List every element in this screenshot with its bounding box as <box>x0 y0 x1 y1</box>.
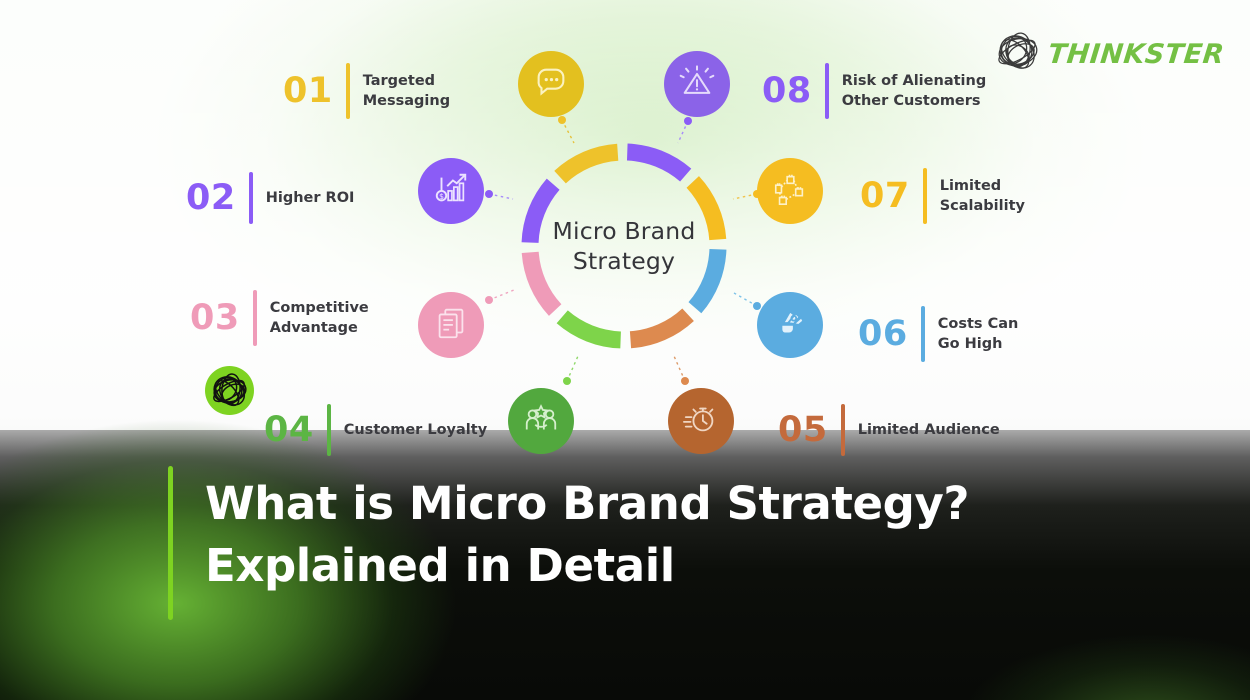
item-number: 06 <box>858 317 908 352</box>
item-divider <box>327 404 331 456</box>
item-label: Targeted Messaging <box>363 71 450 111</box>
stopwatch-icon <box>682 400 720 443</box>
chat-bubble-icon <box>532 63 570 106</box>
icon-bubble-limited-scalability[interactable] <box>757 158 823 224</box>
icon-bubble-targeted-messaging[interactable] <box>518 51 584 117</box>
item-number: 03 <box>190 301 240 336</box>
item-number: 02 <box>186 181 236 216</box>
people-star-icon <box>522 400 560 443</box>
item-divider <box>825 63 829 119</box>
growth-chart-dollar-icon: $ <box>432 170 470 213</box>
item-label: Competitive Advantage <box>270 298 369 338</box>
title-line-1: What is Micro Brand Strategy? <box>205 473 1065 535</box>
list-item-07[interactable]: 07 Limited Scalability <box>860 168 1025 224</box>
hand-cash-icon <box>771 304 809 347</box>
list-item-08[interactable]: 08 Risk of Alienating Other Customers <box>762 63 986 119</box>
list-item-02[interactable]: 02 Higher ROI <box>186 172 354 224</box>
page-title: What is Micro Brand Strategy? Explained … <box>205 473 1065 597</box>
center-label-line1: Micro Brand <box>553 216 696 246</box>
title-accent-rule <box>168 466 173 620</box>
icon-bubble-competitive-advantage[interactable] <box>418 292 484 358</box>
item-label: Higher ROI <box>266 188 355 208</box>
list-item-03[interactable]: 03 Competitive Advantage <box>190 290 369 346</box>
item-number: 08 <box>762 74 812 109</box>
icon-bubble-customer-loyalty[interactable] <box>508 388 574 454</box>
list-item-05[interactable]: 05 Limited Audience <box>778 404 1000 456</box>
background-green-glow-bottom-right <box>940 600 1250 700</box>
item-label: Limited Audience <box>858 420 1000 440</box>
item-number: 07 <box>860 179 910 214</box>
list-item-01[interactable]: 01 Targeted Messaging <box>283 63 450 119</box>
list-item-06[interactable]: 06 Costs Can Go High <box>858 306 1018 362</box>
item-number: 04 <box>264 413 314 448</box>
icon-bubble-costs-can-go-high[interactable] <box>757 292 823 358</box>
item-number: 05 <box>778 413 828 448</box>
list-item-04[interactable]: 04 Customer Loyalty <box>264 404 487 456</box>
warning-triangle-icon <box>678 63 716 106</box>
thinkster-logo[interactable]: THINKSTER <box>992 30 1224 79</box>
network-buildings-icon <box>771 170 809 213</box>
item-label: Limited Scalability <box>940 176 1025 216</box>
item-number: 01 <box>283 74 333 109</box>
scribble-mark-icon <box>992 30 1044 79</box>
icon-bubble-limited-audience[interactable] <box>668 388 734 454</box>
documents-checklist-icon <box>432 304 470 347</box>
item-divider <box>921 306 925 362</box>
item-divider <box>346 63 350 119</box>
item-divider <box>249 172 253 224</box>
scribble-badge <box>205 366 254 415</box>
infographic-slide: THINKSTER <box>0 0 1250 700</box>
svg-text:$: $ <box>439 191 444 200</box>
logo-wordmark: THINKSTER <box>1046 39 1225 70</box>
donut-center-label: Micro Brand Strategy <box>518 140 730 352</box>
icon-bubble-higher-roi[interactable]: $ <box>418 158 484 224</box>
item-label: Risk of Alienating Other Customers <box>842 71 986 111</box>
item-divider <box>841 404 845 456</box>
scribble-mark-icon <box>208 371 252 411</box>
item-label: Customer Loyalty <box>344 420 487 440</box>
title-line-2: Explained in Detail <box>205 535 1065 597</box>
item-divider <box>253 290 257 346</box>
item-label: Costs Can Go High <box>938 314 1019 354</box>
icon-bubble-risk-alienating[interactable] <box>664 51 730 117</box>
item-divider <box>923 168 927 224</box>
center-label-line2: Strategy <box>573 246 675 276</box>
